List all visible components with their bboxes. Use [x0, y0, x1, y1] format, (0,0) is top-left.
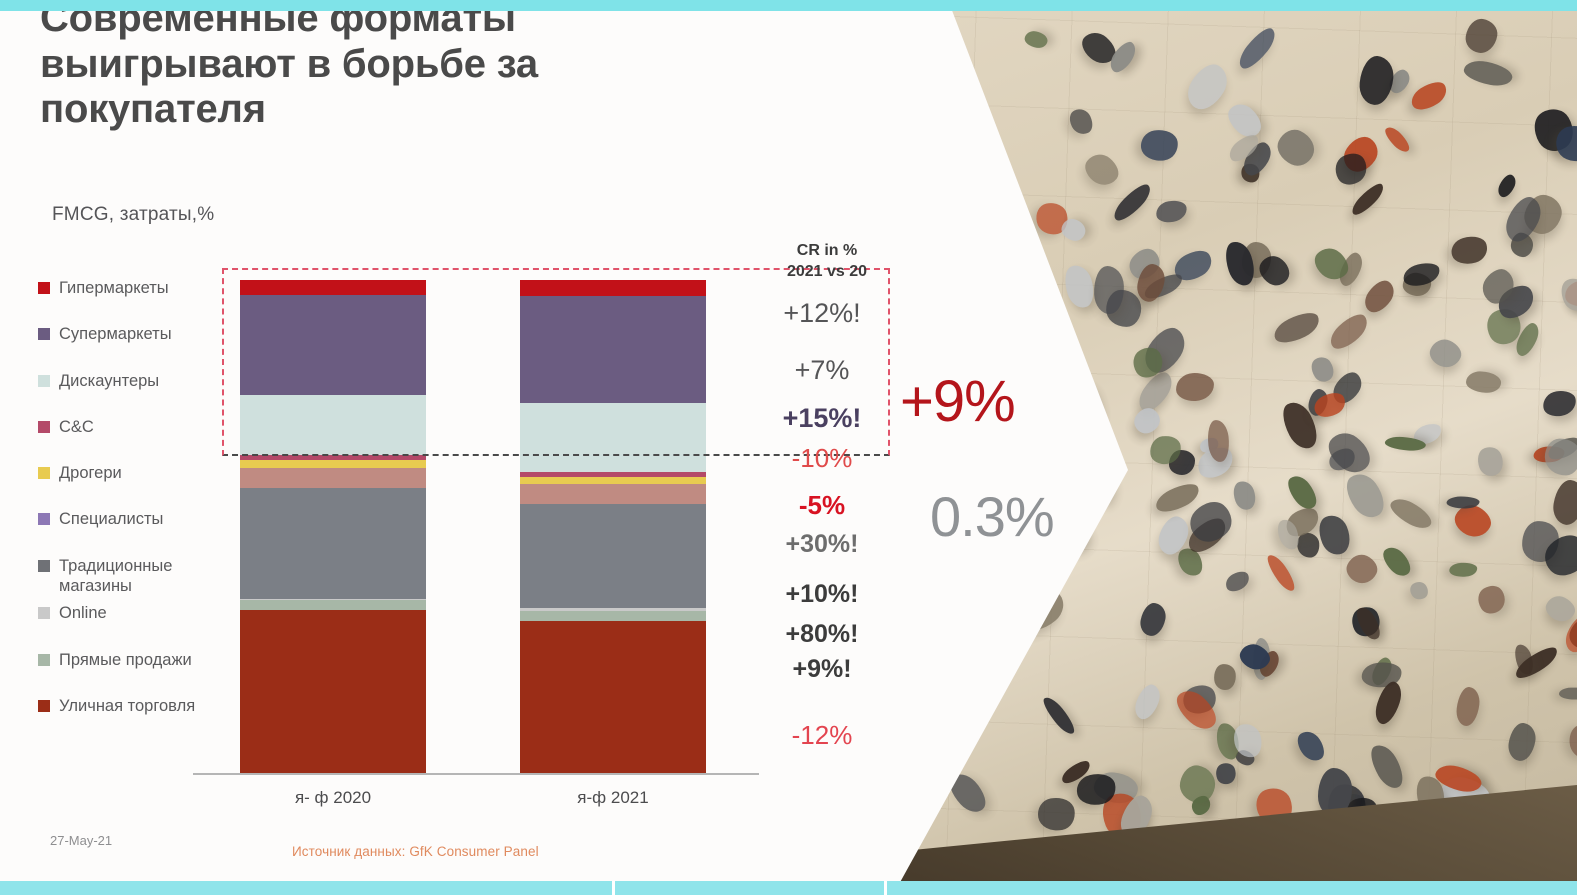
cr-value: -10%	[742, 443, 902, 474]
legend-swatch-icon	[38, 282, 50, 294]
legend-swatch-icon	[38, 328, 50, 340]
slide-canvas: Современные форматы выигрывают в борьбе …	[0, 0, 1577, 895]
cr-value: +12%!	[742, 298, 902, 329]
cr-header-line1: CR in %	[752, 240, 902, 261]
legend-swatch-icon	[38, 421, 50, 433]
x-axis-line	[193, 773, 759, 775]
bar-segment[interactable]	[520, 504, 706, 608]
legend-swatch-icon	[38, 700, 50, 712]
legend-item-label: Специалисты	[59, 509, 163, 530]
bar-segment[interactable]	[240, 488, 426, 599]
bar-segment[interactable]	[240, 460, 426, 467]
legend-item-label: Гипермаркеты	[59, 278, 169, 299]
slide-date: 27-May-21	[50, 833, 112, 848]
legend-swatch-icon	[38, 607, 50, 619]
bar-segment[interactable]	[520, 611, 706, 621]
legend-swatch-icon	[38, 654, 50, 666]
legend-item-label: Дрогери	[59, 463, 122, 484]
legend-item-label: Online	[59, 603, 107, 624]
bar-segment[interactable]	[520, 484, 706, 505]
x-tick-label-2020: я- ф 2020	[240, 788, 426, 808]
legend-item-label: Уличная торговля	[59, 696, 195, 717]
legend-item-label: Дискаунтеры	[59, 371, 159, 392]
cr-value: +7%	[742, 355, 902, 386]
bar-segment[interactable]	[520, 621, 706, 773]
x-tick-label-2021: я-ф 2021	[520, 788, 706, 808]
legend-swatch-icon	[38, 560, 50, 572]
legend-item-label: Прямые продажи	[59, 650, 192, 671]
chart-subtitle: FMCG, затраты,%	[52, 204, 214, 226]
bar-segment[interactable]	[240, 600, 426, 610]
cr-value: -5%	[742, 490, 902, 521]
legend-swatch-icon	[38, 375, 50, 387]
cr-value: +10%!	[742, 580, 902, 609]
cr-value: +80%!	[742, 620, 902, 649]
page-title: Современные форматы выигрывают в борьбе …	[40, 0, 660, 133]
cr-value: +15%!	[742, 403, 902, 434]
cr-value: -12%	[742, 720, 902, 751]
legend-item-label: C&C	[59, 417, 94, 438]
total-growth-annotation: +9%	[900, 368, 1015, 435]
bottom-accent-bar	[0, 881, 1577, 895]
top-accent-bar	[0, 0, 1577, 11]
legend-swatch-icon	[38, 467, 50, 479]
source-note: Источник данных: GfK Consumer Panel	[292, 844, 539, 859]
bar-segment[interactable]	[240, 610, 426, 773]
bar-segment[interactable]	[520, 477, 706, 484]
bottom-bar-divider	[612, 881, 615, 895]
bar-segment[interactable]	[240, 468, 426, 488]
cr-value: +9%!	[742, 655, 902, 684]
legend-item-label: Супермаркеты	[59, 324, 172, 345]
online-share-annotation: 0.3%	[930, 484, 1054, 549]
cr-header-line2: 2021 vs 20	[752, 261, 902, 282]
bottom-bar-divider	[884, 881, 887, 895]
legend-swatch-icon	[38, 513, 50, 525]
legend-item-label: Традиционные магазины	[59, 556, 172, 598]
cr-value: +30%!	[742, 530, 902, 559]
cr-column-header: CR in % 2021 vs 20	[752, 240, 902, 282]
